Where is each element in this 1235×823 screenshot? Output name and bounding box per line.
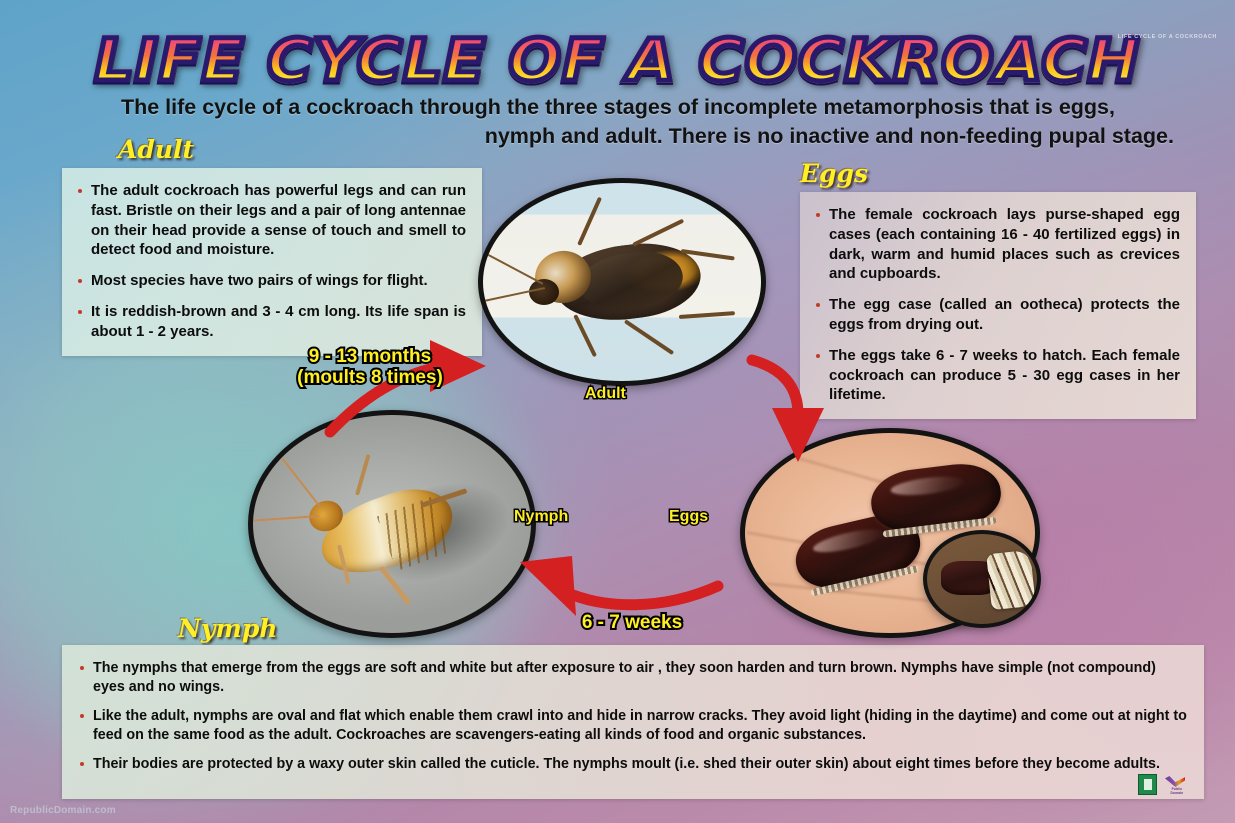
arrow-adult-to-eggs-tail [752, 360, 798, 414]
public-domain-check-icon: Public Domain [1165, 775, 1189, 795]
public-domain-label: Public Domain [1165, 787, 1189, 795]
cycle-arrows [0, 0, 1235, 823]
transition-label-nymph-to-adult: 9 - 13 months (moults 8 times) [258, 346, 482, 389]
transition-months-line-2: (moults 8 times) [297, 367, 443, 388]
arrow-eggs-to-nymph-head [520, 556, 576, 616]
arrow-adult-to-eggs-head [772, 408, 824, 462]
arrow-eggs-to-nymph-tail [566, 586, 718, 605]
photo-hatching-nymphs-inset [923, 530, 1041, 628]
transition-label-eggs-to-nymph: 6 - 7 weeks [552, 612, 712, 633]
inset-white-nymphs [986, 550, 1036, 610]
footer-logos: Public Domain [1138, 774, 1189, 795]
green-book-logo-icon [1138, 774, 1157, 795]
infographic-poster: Life Cycle of a Cockroach The life cycle… [0, 0, 1235, 823]
transition-months-line-1: 9 - 13 months [309, 346, 431, 367]
